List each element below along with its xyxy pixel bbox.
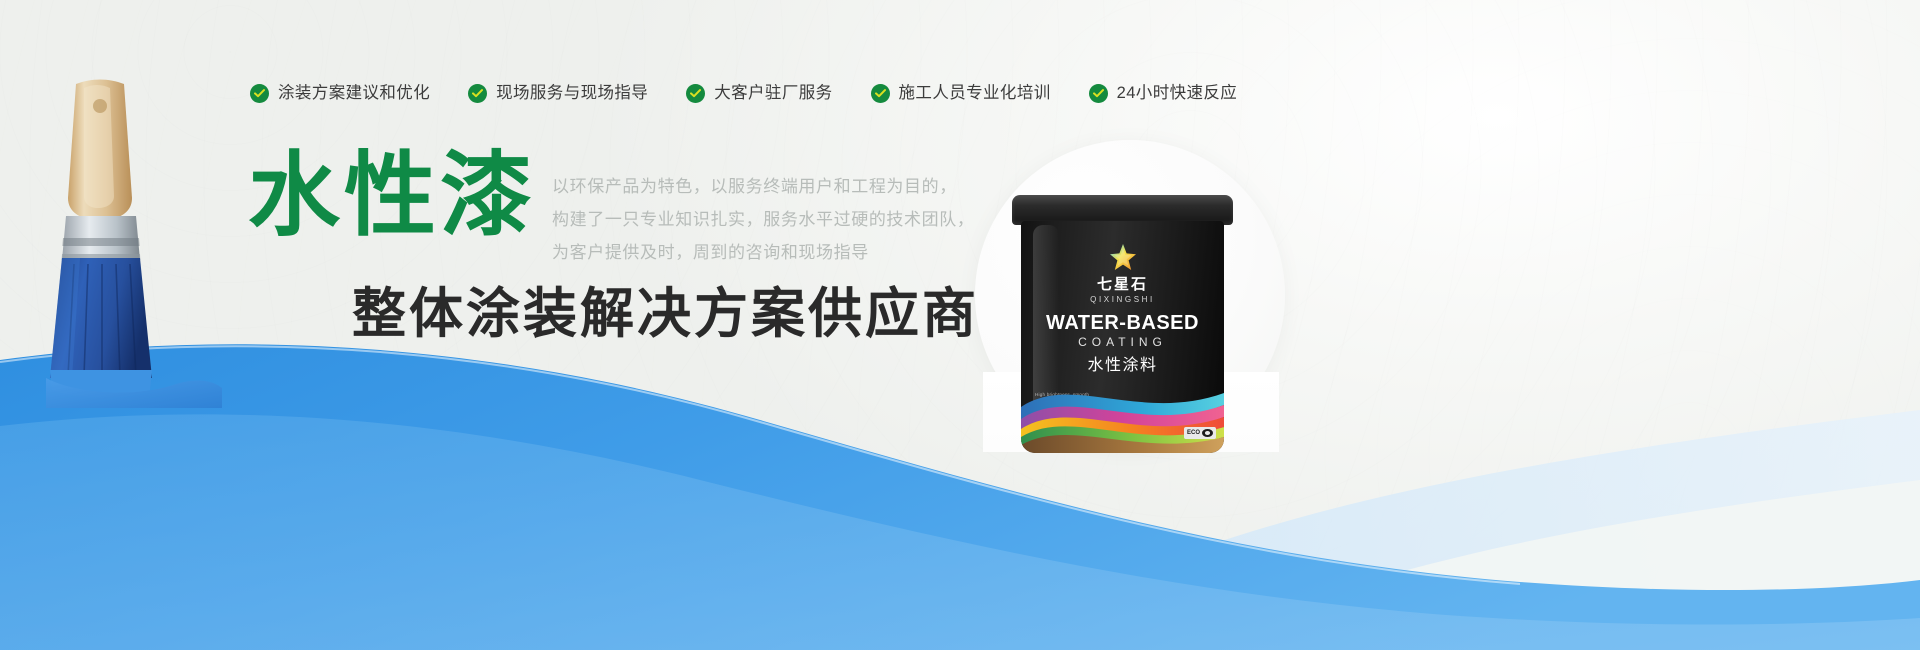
eco-label: ECO [1187,430,1200,436]
product-subtitle: COATING [1021,336,1224,348]
description-line: 以环保产品为特色，以服务终端用户和工程为目的， [552,170,974,203]
brand-name-cn: 七星石 [1097,277,1148,292]
feature-label: 施工人员专业化培训 [899,85,1051,102]
bucket-body: 七星石 QIXINGSHI WATER-BASED COATING 水性涂料 H… [1021,221,1224,453]
feature-item[interactable]: 大客户驻厂服务 [686,84,832,103]
brand-name-en: QIXINGSHI [1090,296,1155,304]
feature-list: 涂装方案建议和优化 现场服务与现场指导 大客户驻厂服务 施工人员专业化培训 24 [250,84,1237,103]
description-line: 构建了一只专业知识扎实，服务水平过硬的技术团队， [552,203,974,236]
description-line: 为客户提供及时，周到的咨询和现场指导 [552,236,974,269]
page-title: 水性漆 [248,150,536,244]
check-circle-icon [468,84,487,103]
feature-item[interactable]: 24小时快速反应 [1089,84,1238,103]
check-circle-icon [686,84,705,103]
check-circle-icon [871,84,890,103]
product-showcase: 七星石 QIXINGSHI WATER-BASED COATING 水性涂料 H… [975,140,1305,450]
check-circle-icon [1089,84,1108,103]
check-circle-icon [250,84,269,103]
feature-label: 大客户驻厂服务 [714,85,832,102]
eco-leaf-icon [1202,429,1213,437]
headline-block: 水性漆 以环保产品为特色，以服务终端用户和工程为目的， 构建了一只专业知识扎实，… [248,150,974,269]
feature-item[interactable]: 现场服务与现场指导 [468,84,648,103]
feature-label: 涂装方案建议和优化 [278,85,430,102]
paint-bucket[interactable]: 七星石 QIXINGSHI WATER-BASED COATING 水性涂料 H… [1015,195,1230,455]
page-subtitle: 整体涂装解决方案供应商 [352,285,979,344]
brand-logo: 七星石 QIXINGSHI [1021,243,1224,304]
eco-badge: ECO [1184,427,1216,439]
paint-brush-icon [46,78,246,438]
feature-label: 24小时快速反应 [1117,85,1238,102]
star-icon [1108,243,1138,273]
product-title: WATER-BASED [1021,313,1224,333]
hero-banner: 涂装方案建议和优化 现场服务与现场指导 大客户驻厂服务 施工人员专业化培训 24 [0,0,1920,650]
feature-item[interactable]: 施工人员专业化培训 [871,84,1051,103]
bucket-rainbow-waves [1021,367,1224,453]
description-block: 以环保产品为特色，以服务终端用户和工程为目的， 构建了一只专业知识扎实，服务水平… [552,150,974,269]
feature-label: 现场服务与现场指导 [496,85,648,102]
feature-item[interactable]: 涂装方案建议和优化 [250,84,430,103]
